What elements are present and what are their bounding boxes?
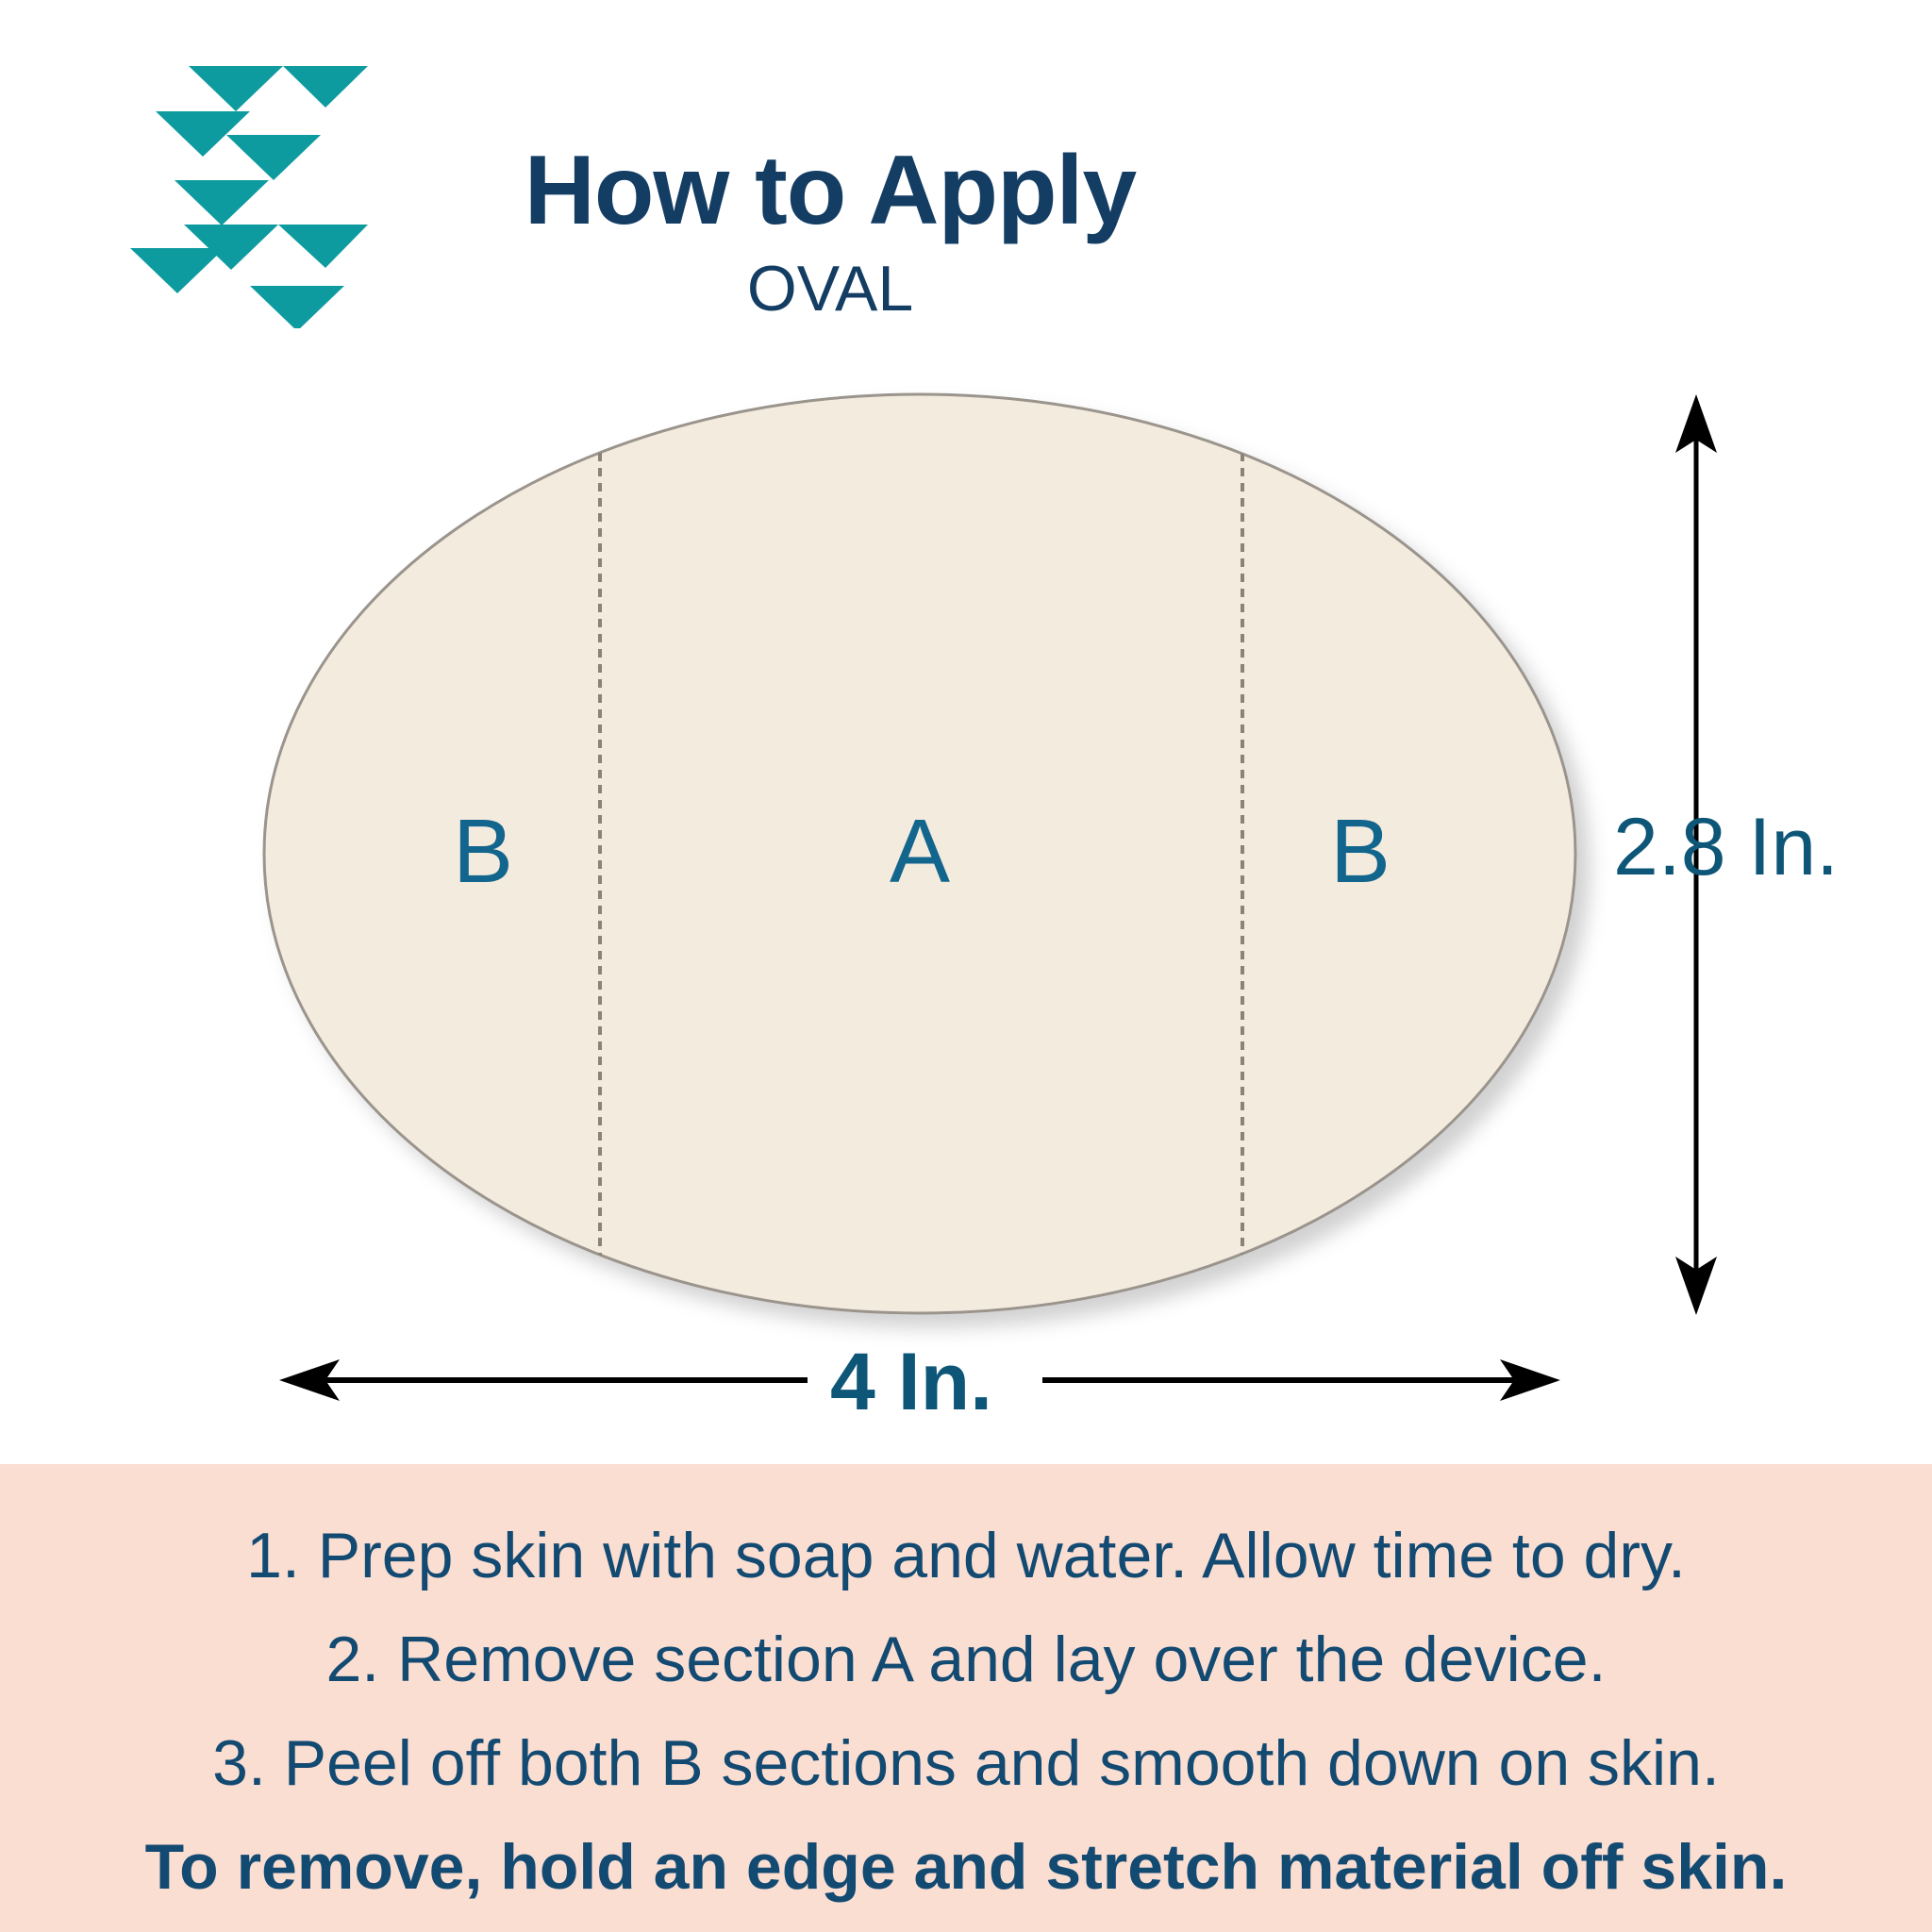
instruction-step-1: 1. Prep skin with soap and water. Allow … bbox=[66, 1504, 1866, 1607]
oval-diagram-svg bbox=[0, 0, 1932, 1464]
oval-diagram: B A B 2.8 In. 4 In. bbox=[0, 0, 1932, 1464]
width-dimension-label: 4 In. bbox=[830, 1341, 992, 1423]
oval-section-label-b-right: B bbox=[1294, 807, 1426, 897]
instructions-panel: 1. Prep skin with soap and water. Allow … bbox=[0, 1464, 1932, 1932]
instruction-step-2: 2. Remove section A and lay over the dev… bbox=[66, 1607, 1866, 1711]
how-to-apply-infographic: How to Apply OVAL bbox=[0, 0, 1932, 1932]
instruction-removal-note: To remove, hold an edge and stretch mate… bbox=[66, 1815, 1866, 1919]
oval-section-label-a: A bbox=[854, 807, 986, 897]
oval-section-label-b-left: B bbox=[417, 807, 549, 897]
height-dimension-label: 2.8 In. bbox=[1613, 807, 1839, 888]
instruction-step-3: 3. Peel off both B sections and smooth d… bbox=[66, 1711, 1866, 1815]
